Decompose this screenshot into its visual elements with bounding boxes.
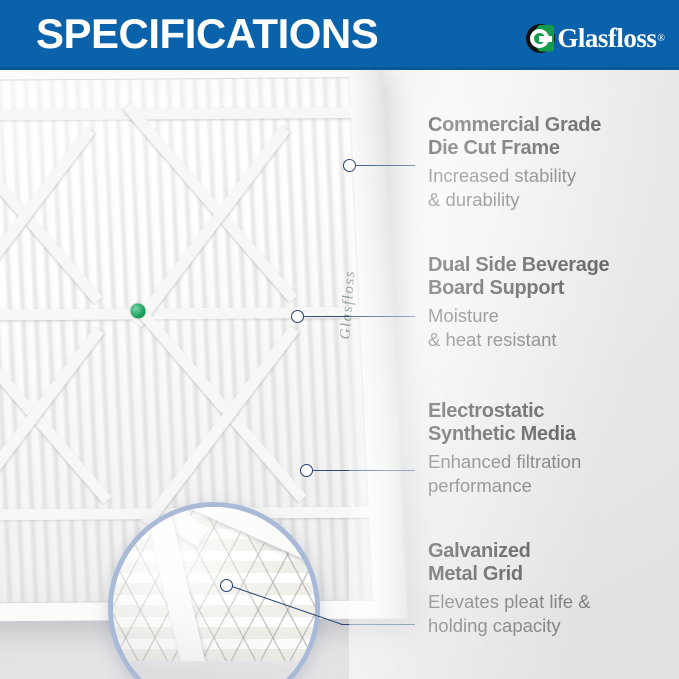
callout-title-1: Commercial Grade Die Cut Frame [428,114,601,160]
brand-name: Glasfloss [557,25,656,52]
product-photo-scene: Glasfloss Commercial Grade Die Cut Frame… [0,70,679,679]
callout-subtitle-4: Elevates pleat life & holding capacity [428,590,590,638]
page-title: SPECIFICATIONS [36,13,378,55]
callout-subtitle-3: Enhanced filtration performance [428,450,581,498]
callout-subtitle-2: Moisture & heat resistant [428,304,609,352]
brand-logo: Glasfloss ® [526,22,665,54]
magnifier-shading [113,507,315,679]
callout-line-4b [341,624,415,625]
callout-block-3: Electrostatic Synthetic Media Enhanced f… [428,400,581,498]
magnifier-inset [108,502,320,679]
callout-line-1 [355,165,415,166]
callout-subtitle-1: Increased stability & durability [428,164,601,212]
callout-block-2: Dual Side Beverage Board Support Moistur… [428,254,609,352]
registered-trademark-icon: ® [657,33,665,44]
header-bar: SPECIFICATIONS Glasfloss ® [0,0,679,70]
callout-block-1: Commercial Grade Die Cut Frame Increased… [428,114,601,212]
callout-title-3: Electrostatic Synthetic Media [428,400,581,446]
callout-line-2 [303,316,415,317]
callout-title-2: Dual Side Beverage Board Support [428,254,609,300]
specifications-infographic: SPECIFICATIONS Glasfloss ® [0,0,679,679]
glasfloss-g-icon [526,24,555,53]
callout-title-4: Galvanized Metal Grid [428,540,590,586]
callout-block-4: Galvanized Metal Grid Elevates pleat lif… [428,540,590,638]
callout-line-3 [312,470,415,471]
